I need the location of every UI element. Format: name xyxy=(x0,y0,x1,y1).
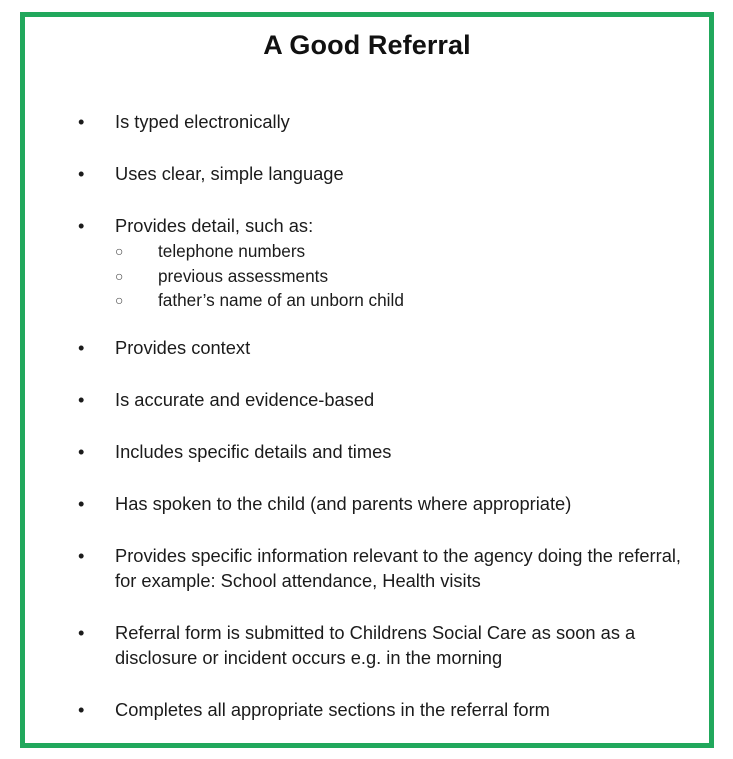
sub-list-item-text: telephone numbers xyxy=(158,239,695,264)
list-item: • Provides context xyxy=(25,335,709,360)
bullet-icon: • xyxy=(78,213,92,238)
list-item-text: Referral form is submitted to Childrens … xyxy=(115,620,695,670)
list-item: • Is typed electronically xyxy=(25,109,709,134)
list-item-text: Provides specific information relevant t… xyxy=(115,543,695,593)
list-item-text: Provides context xyxy=(115,335,695,360)
list-item: • Completes all appropriate sections in … xyxy=(25,697,709,722)
sub-list: ○ telephone numbers ○ previous assessmen… xyxy=(115,239,695,313)
sub-list-item: ○ previous assessments xyxy=(115,264,695,289)
bullet-icon: • xyxy=(78,161,92,186)
bullet-icon: • xyxy=(78,439,92,464)
bullet-icon: • xyxy=(78,620,92,645)
bullet-icon: • xyxy=(78,543,92,568)
sub-bullet-icon: ○ xyxy=(115,264,123,289)
bullet-icon: • xyxy=(78,387,92,412)
referral-card: A Good Referral • Is typed electronicall… xyxy=(20,12,714,748)
list-item: • Is accurate and evidence-based xyxy=(25,387,709,412)
list-item-text: Is typed electronically xyxy=(115,109,695,134)
list-item-text: Includes specific details and times xyxy=(115,439,695,464)
sub-list-item-text: previous assessments xyxy=(158,264,695,289)
sub-bullet-icon: ○ xyxy=(115,239,123,264)
list-item-text: Has spoken to the child (and parents whe… xyxy=(115,491,695,516)
sub-list-item-text: father’s name of an unborn child xyxy=(158,288,695,313)
bullet-icon: • xyxy=(78,109,92,134)
list-item: • Has spoken to the child (and parents w… xyxy=(25,491,709,516)
list-item-text: Completes all appropriate sections in th… xyxy=(115,697,695,722)
bullet-list: • Is typed electronically • Uses clear, … xyxy=(25,109,709,722)
bullet-icon: • xyxy=(78,491,92,516)
list-item: • Provides detail, such as: ○ telephone … xyxy=(25,213,709,313)
bullet-icon: • xyxy=(78,697,92,722)
list-item: • Includes specific details and times xyxy=(25,439,709,464)
slide-canvas: A Good Referral • Is typed electronicall… xyxy=(0,0,733,759)
bullet-icon: • xyxy=(78,335,92,360)
sub-list-item: ○ father’s name of an unborn child xyxy=(115,288,695,313)
sub-list-item: ○ telephone numbers xyxy=(115,239,695,264)
list-item: • Referral form is submitted to Children… xyxy=(25,620,709,670)
list-item: • Provides specific information relevant… xyxy=(25,543,709,593)
sub-bullet-icon: ○ xyxy=(115,288,123,313)
list-item-text: Is accurate and evidence-based xyxy=(115,387,695,412)
list-item-text: Provides detail, such as: xyxy=(115,213,695,238)
page-title: A Good Referral xyxy=(25,30,709,61)
list-item: • Uses clear, simple language xyxy=(25,161,709,186)
list-item-text: Uses clear, simple language xyxy=(115,161,695,186)
